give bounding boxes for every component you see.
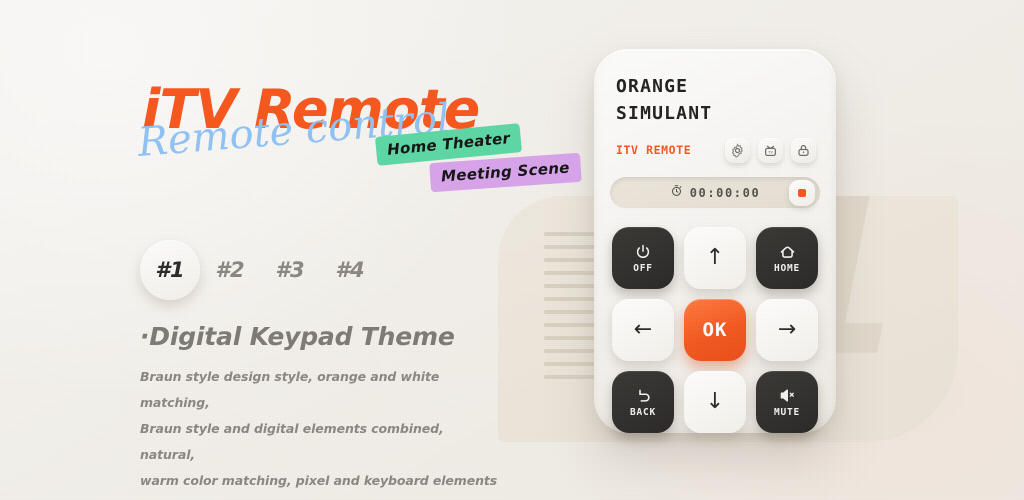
key-down[interactable]: ↓ xyxy=(684,371,746,433)
gear-icon xyxy=(730,143,745,158)
description-line: warm color matching, pixel and keyboard … xyxy=(140,468,500,494)
tv-icon: TV xyxy=(763,143,778,158)
key-mute[interactable]: MUTE xyxy=(756,371,818,433)
key-left[interactable]: ← xyxy=(612,299,674,361)
hero-title-block: iTV Remote Remote control Home Theater M… xyxy=(138,78,568,188)
key-power-off[interactable]: OFF xyxy=(612,227,674,289)
tv-button[interactable]: TV xyxy=(758,138,783,163)
key-up[interactable]: ↑ xyxy=(684,227,746,289)
device-name: ORANGE SIMULANT xyxy=(616,73,712,127)
step-item-3[interactable]: #3 xyxy=(260,258,320,282)
lock-button[interactable] xyxy=(791,138,816,163)
settings-button[interactable] xyxy=(725,138,750,163)
back-icon xyxy=(634,386,653,405)
stopwatch-icon xyxy=(670,184,683,202)
key-right[interactable]: → xyxy=(756,299,818,361)
step-item-4[interactable]: #4 xyxy=(320,258,380,282)
section-subhead: ·Digital Keypad Theme xyxy=(140,322,455,351)
step-selector: #1 #2 #3 #4 xyxy=(140,240,380,300)
key-back[interactable]: BACK xyxy=(612,371,674,433)
poster-canvas: 1 iTV Remote Remote control Home Theater… xyxy=(0,0,1024,500)
record-dot-icon xyxy=(798,189,806,197)
key-label-back: BACK xyxy=(630,408,656,418)
key-label-off: OFF xyxy=(633,264,653,274)
arrow-right-icon: → xyxy=(778,319,796,341)
timer-value: 00:00:00 xyxy=(690,186,761,200)
arrow-up-icon: ↑ xyxy=(706,247,724,269)
arrow-left-icon: ← xyxy=(634,319,652,341)
lock-icon xyxy=(796,143,811,158)
device-name-line-2: SIMULANT xyxy=(616,100,712,127)
remote-toolbar: ITV REMOTE TV xyxy=(616,137,816,163)
home-icon xyxy=(778,242,797,261)
description-line: Braun style and digital elements combine… xyxy=(140,416,500,468)
key-ok[interactable]: OK xyxy=(684,299,746,361)
step-item-1[interactable]: #1 xyxy=(140,240,200,300)
device-name-line-1: ORANGE xyxy=(616,73,712,100)
ok-label: OK xyxy=(703,319,728,341)
timer-bar[interactable]: 00:00:00 xyxy=(610,177,820,209)
toolbar-icon-group: TV xyxy=(725,138,816,163)
step-item-2[interactable]: #2 xyxy=(200,258,260,282)
key-label-home: HOME xyxy=(774,264,800,274)
arrow-down-icon: ↓ xyxy=(706,391,724,413)
key-home[interactable]: HOME xyxy=(756,227,818,289)
brand-label: ITV REMOTE xyxy=(616,143,691,157)
description-copy: Braun style design style, orange and whi… xyxy=(140,364,500,494)
mute-icon xyxy=(778,386,797,405)
key-label-mute: MUTE xyxy=(774,408,800,418)
svg-text:TV: TV xyxy=(768,149,773,154)
keypad: OFF ↑ HOME ← OK → xyxy=(612,227,818,433)
remote-device: ORANGE SIMULANT ITV REMOTE xyxy=(594,49,836,433)
record-button[interactable] xyxy=(789,180,815,206)
power-icon xyxy=(634,243,652,261)
description-line: Braun style design style, orange and whi… xyxy=(140,364,500,416)
